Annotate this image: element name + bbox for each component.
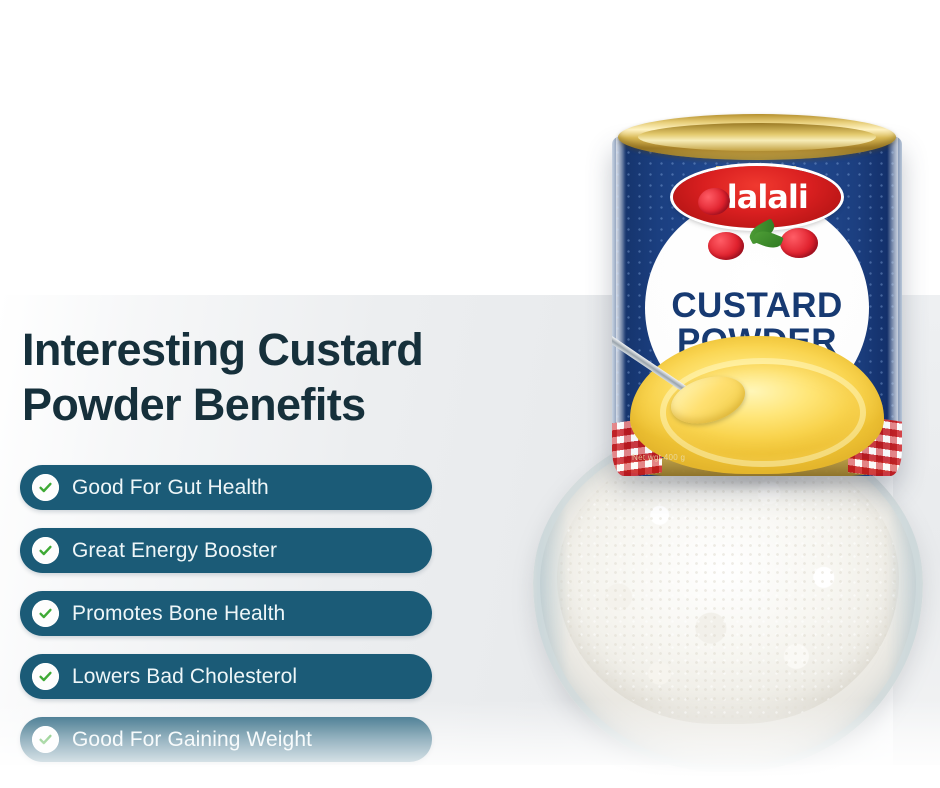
mint-leaf-icon (748, 220, 784, 250)
benefit-label: Promotes Bone Health (72, 602, 285, 626)
benefit-label: Lowers Bad Cholesterol (72, 665, 297, 689)
benefit-item-cholesterol[interactable]: Lowers Bad Cholesterol (20, 654, 432, 699)
spoon-bowl (665, 368, 750, 431)
raspberry-right (780, 228, 818, 258)
benefit-item-gut-health[interactable]: Good For Gut Health (20, 465, 432, 510)
bottom-fade (0, 700, 940, 788)
poster-canvas: CUSTARD POWDER Easy to prepare (0, 0, 940, 788)
can-lid-inner-ring (638, 123, 876, 151)
product-photo: CUSTARD POWDER Easy to prepare (500, 100, 940, 788)
benefit-item-energy-booster[interactable]: Great Energy Booster (20, 528, 432, 573)
net-weight-text: Net wgt 400 g (632, 453, 685, 462)
product-title-line1: CUSTARD (612, 288, 902, 324)
check-circle-icon (32, 537, 59, 564)
page-title-line1: Interesting Custard (22, 322, 542, 377)
benefit-item-bone-health[interactable]: Promotes Bone Health (20, 591, 432, 636)
check-circle-icon (32, 663, 59, 690)
page-title-line2: Powder Benefits (22, 377, 542, 432)
spoon-icon (612, 332, 746, 428)
page-title: Interesting Custard Powder Benefits (22, 322, 542, 432)
can-lid (618, 114, 896, 160)
raspberry-left (708, 232, 744, 260)
benefit-label: Good For Gut Health (72, 476, 269, 500)
check-circle-icon (32, 474, 59, 501)
product-can: CUSTARD POWDER Easy to prepare (612, 114, 902, 479)
benefit-label: Great Energy Booster (72, 539, 277, 563)
check-circle-icon (32, 600, 59, 627)
